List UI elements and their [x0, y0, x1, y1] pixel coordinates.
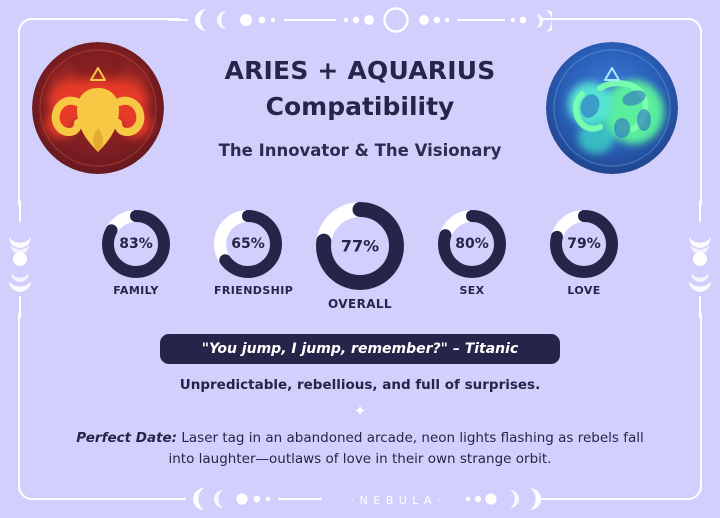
gauge-value: 80%	[438, 236, 506, 252]
page-subtitle: Compatibility	[178, 92, 542, 121]
description-text: Unpredictable, rebellious, and full of s…	[60, 377, 660, 393]
gauge-value: 77%	[316, 237, 404, 256]
title-block: ARIES + AQUARIUS Compatibility The Innov…	[178, 56, 542, 160]
gauge-value: 79%	[550, 236, 618, 252]
perfect-date-label: Perfect Date:	[76, 430, 177, 446]
quote-banner: "You jump, I jump, remember?" – Titanic	[160, 334, 560, 364]
brand-label: · N E B U L A ·	[351, 494, 442, 507]
moon-phase-ornament-bottom: · N E B U L A ·	[168, 484, 552, 514]
gauge-overall: 77%OVERALL	[316, 202, 404, 311]
infographic-card: · N E B U L A ·	[0, 0, 720, 518]
gauge-label: FAMILY	[102, 284, 170, 297]
gauge-love: 79%LOVE	[550, 210, 618, 297]
gauge-label: FRIENDSHIP	[214, 284, 282, 297]
moon-phase-ornament-top	[168, 6, 552, 34]
gauge-label: LOVE	[550, 284, 618, 297]
gauge-value: 83%	[102, 236, 170, 252]
gauge-value: 65%	[214, 236, 282, 252]
aquarius-emblem	[546, 42, 678, 174]
tagline: The Innovator & The Visionary	[178, 141, 542, 160]
quote-text: "You jump, I jump, remember?" – Titanic	[202, 341, 519, 357]
gauge-label: OVERALL	[316, 297, 404, 311]
perfect-date-block: Perfect Date: Laser tag in an abandoned …	[72, 428, 648, 471]
gauge-friendship: 65%FRIENDSHIP	[214, 210, 282, 297]
gauge-label: SEX	[438, 284, 506, 297]
page-title: ARIES + AQUARIUS	[178, 56, 542, 85]
compatibility-gauges: 83%FAMILY65%FRIENDSHIP77%OVERALL80%SEX79…	[0, 196, 720, 316]
aries-emblem	[32, 42, 164, 174]
gauge-family: 83%FAMILY	[102, 210, 170, 297]
perfect-date-text: Laser tag in an abandoned arcade, neon l…	[169, 430, 644, 467]
gauge-sex: 80%SEX	[438, 210, 506, 297]
sparkle-divider-icon: ✦	[0, 404, 720, 419]
